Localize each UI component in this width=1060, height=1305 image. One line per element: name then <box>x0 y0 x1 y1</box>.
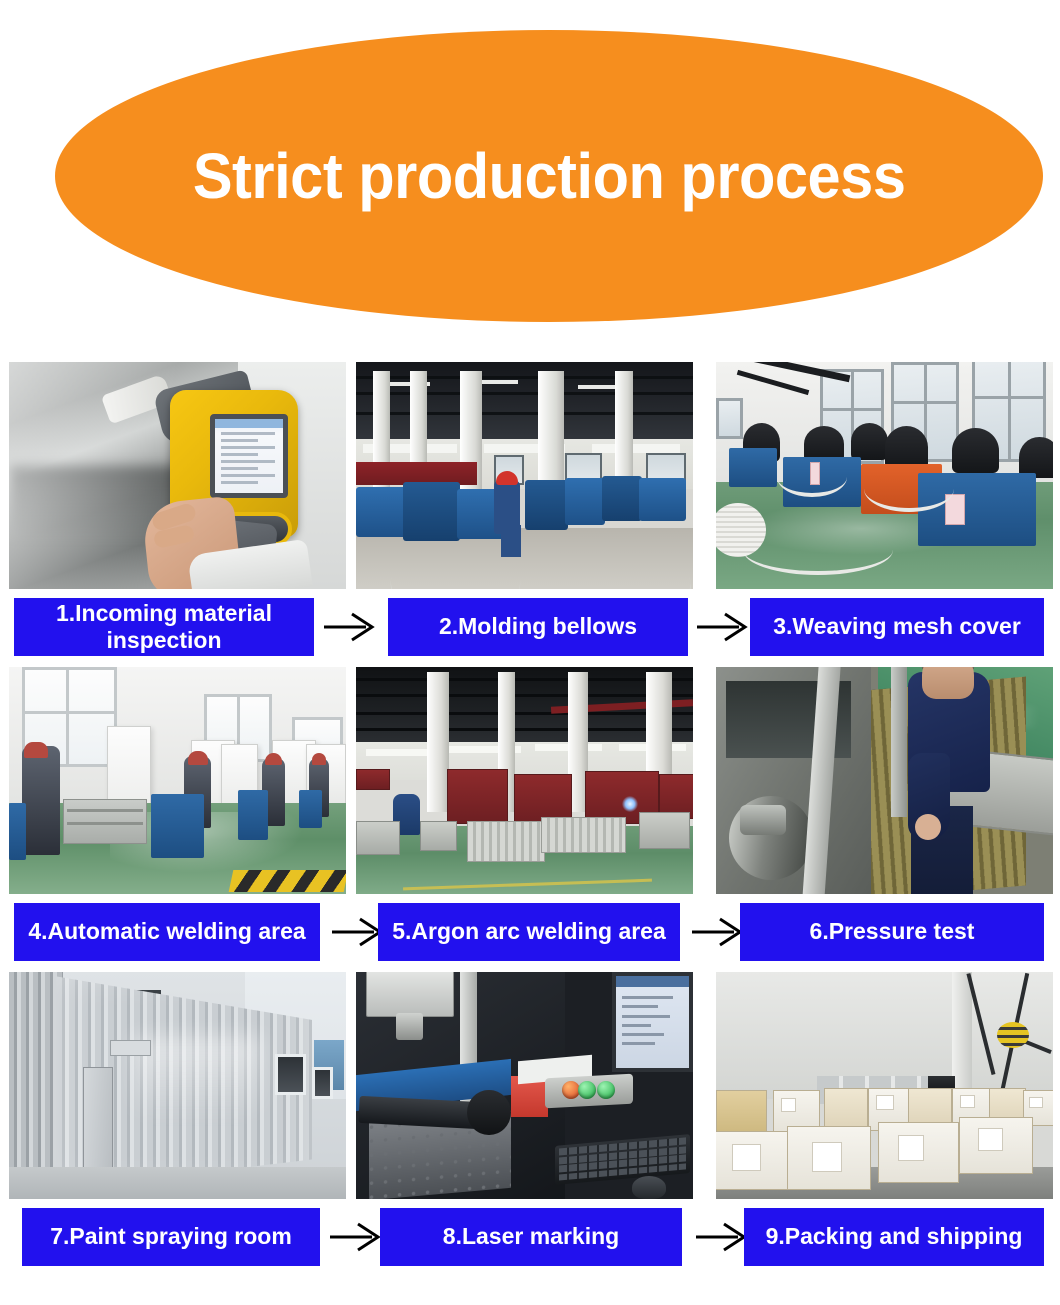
photo-pressure-test: Worker in navy uniform at a water pressu… <box>716 667 1053 894</box>
arrow-7-to-8 <box>328 1220 384 1254</box>
page-title: Strict production process <box>193 139 906 213</box>
arrow-1-to-2 <box>322 610 378 644</box>
title-ellipse: Strict production process <box>55 30 1043 322</box>
process-step-9[interactable]: Rows of wooden export crates with white … <box>716 972 1053 1199</box>
step-label-1[interactable]: 1.Incoming material inspection <box>14 598 314 656</box>
banner-area: Strict production process <box>0 0 1060 352</box>
step-label-4[interactable]: 4.Automatic welding area <box>14 903 320 961</box>
label-band-row-1: 1.Incoming material inspection 2.Molding… <box>0 598 1060 656</box>
label-band-row-2: 4.Automatic welding area 5.Argon arc wel… <box>0 903 1060 961</box>
process-step-2[interactable]: Workshop with rows of blue bellows formi… <box>356 362 693 589</box>
process-step-6[interactable]: Worker in navy uniform at a water pressu… <box>716 667 1053 894</box>
photo-weaving-mesh-cover: Wire braiding machines in blue and orang… <box>716 362 1053 589</box>
step-label-3[interactable]: 3.Weaving mesh cover <box>750 598 1044 656</box>
arrow-8-to-9 <box>694 1220 750 1254</box>
photo-automatic-welding-area: Automatic welding bay with white partiti… <box>9 667 346 894</box>
photo-molding-bellows: Workshop with rows of blue bellows formi… <box>356 362 693 589</box>
process-step-1[interactable]: Handheld XRF material analyzer with LCD … <box>9 362 346 589</box>
step-label-6[interactable]: 6.Pressure test <box>740 903 1044 961</box>
step-label-7[interactable]: 7.Paint spraying room <box>22 1208 320 1266</box>
step-label-8[interactable]: 8.Laser marking <box>380 1208 682 1266</box>
photo-paint-spraying-room: Exterior of a silver corrugated metal pa… <box>9 972 346 1199</box>
process-step-7[interactable]: Exterior of a silver corrugated metal pa… <box>9 972 346 1199</box>
process-step-5[interactable]: Argon arc welding booths with dark red p… <box>356 667 693 894</box>
photo-packing-and-shipping: Rows of wooden export crates with white … <box>716 972 1053 1199</box>
production-process-infographic: Strict production process <box>0 0 1060 1305</box>
process-step-4[interactable]: Automatic welding bay with white partiti… <box>9 667 346 894</box>
process-step-3[interactable]: Wire braiding machines in blue and orang… <box>716 362 1053 589</box>
photo-laser-marking: Laser marking station with laser head, c… <box>356 972 693 1199</box>
process-step-8[interactable]: Laser marking station with laser head, c… <box>356 972 693 1199</box>
step-label-5[interactable]: 5.Argon arc welding area <box>378 903 680 961</box>
step-label-2[interactable]: 2.Molding bellows <box>388 598 688 656</box>
arrow-2-to-3 <box>695 610 751 644</box>
step-label-9[interactable]: 9.Packing and shipping <box>744 1208 1044 1266</box>
label-band-row-3: 7.Paint spraying room 8.Laser marking 9.… <box>0 1208 1060 1266</box>
photo-argon-arc-welding-area: Argon arc welding booths with dark red p… <box>356 667 693 894</box>
arrow-5-to-6 <box>690 915 746 949</box>
photo-incoming-material-inspection: Handheld XRF material analyzer with LCD … <box>9 362 346 589</box>
